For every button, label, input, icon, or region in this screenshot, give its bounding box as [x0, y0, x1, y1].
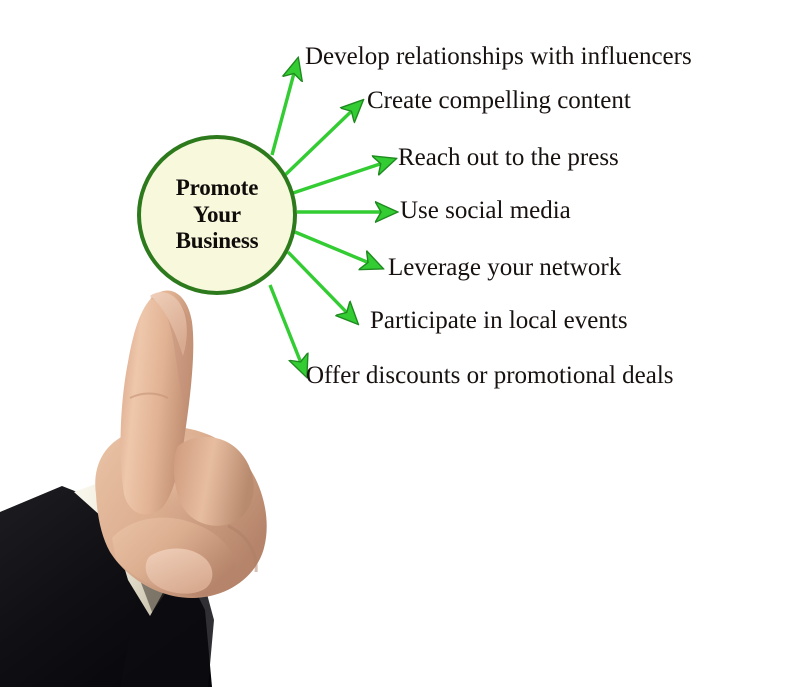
arrow-6	[288, 252, 355, 321]
center-title-line-2: Your	[193, 202, 241, 229]
arrow-5	[295, 232, 379, 267]
arrow-1	[272, 62, 297, 155]
center-node[interactable]: Promote Your Business	[137, 135, 297, 295]
arrow-7	[270, 285, 305, 373]
branch-label-6[interactable]: Participate in local events	[370, 308, 628, 333]
diagram-canvas: Promote Your Business Develop relationsh…	[0, 0, 800, 687]
branch-label-2[interactable]: Create compelling content	[367, 88, 631, 113]
branch-label-4[interactable]: Use social media	[400, 198, 571, 223]
center-title-line-1: Promote	[176, 175, 258, 202]
center-title-line-3: Business	[176, 228, 259, 255]
branch-label-1[interactable]: Develop relationships with influencers	[305, 44, 692, 69]
arrow-3	[293, 160, 392, 193]
branch-label-5[interactable]: Leverage your network	[388, 255, 621, 280]
arrow-2	[282, 103, 360, 178]
branch-label-7[interactable]: Offer discounts or promotional deals	[306, 363, 674, 388]
branch-label-3[interactable]: Reach out to the press	[398, 145, 619, 170]
